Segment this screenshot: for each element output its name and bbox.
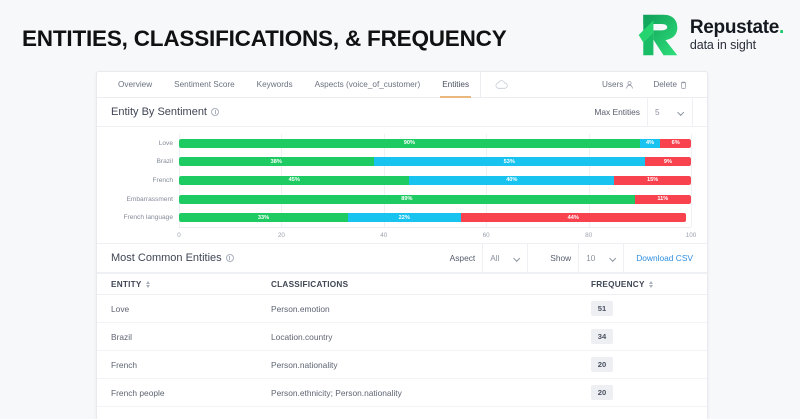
tab-keywords[interactable]: Keywords bbox=[246, 72, 304, 97]
cloud-icon[interactable] bbox=[481, 72, 522, 97]
bar-segment-positive: 45% bbox=[179, 176, 409, 185]
frequency-badge: 34 bbox=[591, 329, 613, 344]
chart-bar-row: French 45% 40% 15% bbox=[179, 176, 691, 185]
aspect-label: Aspect bbox=[450, 253, 483, 263]
trash-icon bbox=[680, 81, 687, 89]
bar-label: Embarrassment bbox=[111, 196, 173, 203]
delete-label: Delete bbox=[653, 80, 677, 89]
tab-overview[interactable]: Overview bbox=[107, 72, 163, 97]
bar-label: French bbox=[111, 177, 173, 184]
show-value: 10 bbox=[586, 254, 595, 263]
bar-segment-negative: 15% bbox=[614, 176, 691, 185]
bar-segment-neutral: 40% bbox=[409, 176, 614, 185]
tab-sentiment-score[interactable]: Sentiment Score bbox=[163, 72, 246, 97]
max-entities-control: Max Entities 5 bbox=[594, 98, 693, 126]
bar-track: 33% 22% 44% bbox=[179, 213, 691, 222]
show-select[interactable]: 10 bbox=[578, 244, 624, 272]
most-common-entities-header: Most Common Entities Aspect All Show 10 … bbox=[97, 243, 707, 273]
entity-sentiment-header: Entity By Sentiment Max Entities 5 bbox=[97, 98, 707, 127]
logo-wordmark-text: Repustate bbox=[690, 17, 779, 38]
cell-entity: Brazil bbox=[111, 332, 271, 342]
cell-frequency: 20 bbox=[591, 385, 693, 400]
most-common-entities-title: Most Common Entities bbox=[111, 252, 234, 264]
table-row[interactable]: Love Person.emotion 51 bbox=[97, 295, 707, 323]
max-entities-value: 5 bbox=[655, 108, 660, 117]
bar-segment-negative: 11% bbox=[635, 195, 691, 204]
bar-label: Love bbox=[111, 140, 173, 147]
bar-segment-positive: 90% bbox=[179, 139, 640, 148]
page-title: ENTITIES, CLASSIFICATIONS, & FREQUENCY bbox=[22, 26, 507, 52]
cell-entity: French bbox=[111, 360, 271, 370]
info-icon[interactable] bbox=[211, 108, 219, 116]
page-header: ENTITIES, CLASSIFICATIONS, & FREQUENCY R… bbox=[0, 0, 800, 70]
download-csv-link[interactable]: Download CSV bbox=[624, 253, 693, 263]
chart-plot: Love 90% 4% 6% Brazil 38% 53% 9% bbox=[111, 134, 693, 227]
frequency-badge: 20 bbox=[591, 357, 613, 372]
bar-segment-neutral: 4% bbox=[640, 139, 660, 148]
aspect-control: Aspect All bbox=[450, 244, 529, 272]
logo-text: Repustate. data in sight bbox=[690, 18, 784, 52]
sort-icon[interactable] bbox=[146, 281, 150, 288]
bar-segment-positive: 89% bbox=[179, 195, 635, 204]
max-entities-select[interactable]: 5 bbox=[647, 98, 693, 126]
x-axis-tick-label: 60 bbox=[483, 232, 490, 239]
tab-aspects[interactable]: Aspects (voice_of_customer) bbox=[304, 72, 432, 97]
chart-bar-row: Brazil 38% 53% 9% bbox=[179, 157, 691, 166]
table-row[interactable]: French Person.nationality 20 bbox=[97, 351, 707, 379]
bar-segment-positive: 33% bbox=[179, 213, 348, 222]
column-header-frequency-label: FREQUENCY bbox=[591, 280, 645, 289]
cell-entity: French people bbox=[111, 388, 271, 398]
frequency-badge: 51 bbox=[591, 301, 613, 316]
users-label: Users bbox=[602, 80, 623, 89]
logo-tagline: data in sight bbox=[690, 39, 784, 52]
user-icon bbox=[626, 81, 633, 89]
show-label: Show bbox=[550, 253, 578, 263]
info-icon[interactable] bbox=[226, 254, 234, 262]
bar-segment-neutral: 53% bbox=[374, 157, 645, 166]
table-row[interactable]: Brazil Location.country 34 bbox=[97, 323, 707, 351]
entity-sentiment-title-text: Entity By Sentiment bbox=[111, 106, 207, 118]
chevron-down-icon bbox=[678, 109, 685, 116]
x-axis-tick-label: 80 bbox=[585, 232, 592, 239]
max-entities-label: Max Entities bbox=[594, 107, 647, 117]
tab-entities[interactable]: Entities bbox=[431, 72, 480, 97]
repustate-r-logo-icon bbox=[635, 12, 681, 58]
bar-segment-negative: 6% bbox=[660, 139, 691, 148]
entity-sentiment-chart: Love 90% 4% 6% Brazil 38% 53% 9% bbox=[97, 127, 707, 243]
most-common-entities-title-text: Most Common Entities bbox=[111, 252, 222, 264]
bar-segment-neutral: 22% bbox=[348, 213, 461, 222]
gridline bbox=[691, 134, 692, 227]
aspect-select[interactable]: All bbox=[482, 244, 528, 272]
bar-segment-negative: 9% bbox=[645, 157, 691, 166]
entities-table-header: ENTITY CLASSIFICATIONS FREQUENCY bbox=[97, 273, 707, 295]
chart-x-axis: 020406080100 bbox=[179, 227, 691, 243]
column-header-entity[interactable]: ENTITY bbox=[111, 280, 271, 289]
cell-classifications: Person.nationality bbox=[271, 360, 591, 370]
cell-entity: Love bbox=[111, 304, 271, 314]
bar-label: French language bbox=[111, 214, 173, 221]
column-header-classifications-label: CLASSIFICATIONS bbox=[271, 280, 348, 289]
x-axis-tick-label: 100 bbox=[686, 232, 697, 239]
x-axis-tick-label: 20 bbox=[278, 232, 285, 239]
x-axis-tick-label: 40 bbox=[380, 232, 387, 239]
cell-classifications: Person.emotion bbox=[271, 304, 591, 314]
repustate-logo: Repustate. data in sight bbox=[635, 12, 784, 58]
app-navbar: Overview Sentiment Score Keywords Aspect… bbox=[97, 72, 707, 98]
cell-frequency: 20 bbox=[591, 357, 693, 372]
bar-label: Brazil bbox=[111, 158, 173, 165]
chart-bar-row: French language 33% 22% 44% bbox=[179, 213, 691, 222]
logo-wordmark-dot: . bbox=[779, 17, 784, 38]
chevron-down-icon bbox=[609, 255, 616, 262]
column-header-entity-label: ENTITY bbox=[111, 280, 142, 289]
cell-frequency: 34 bbox=[591, 329, 693, 344]
cell-classifications: Person.ethnicity; Person.nationality bbox=[271, 388, 591, 398]
show-control: Show 10 bbox=[550, 244, 624, 272]
bar-track: 90% 4% 6% bbox=[179, 139, 691, 148]
chart-bar-row: Embarrassment 89% 11% bbox=[179, 195, 691, 204]
delete-button[interactable]: Delete bbox=[645, 80, 695, 89]
sort-icon[interactable] bbox=[649, 281, 653, 288]
bar-segment-positive: 38% bbox=[179, 157, 374, 166]
column-header-frequency[interactable]: FREQUENCY bbox=[591, 280, 693, 289]
chart-inner: Love 90% 4% 6% Brazil 38% 53% 9% bbox=[111, 134, 693, 243]
nav-tab-list: Overview Sentiment Score Keywords Aspect… bbox=[97, 72, 481, 97]
cell-frequency: 51 bbox=[591, 301, 693, 316]
bar-track: 89% 11% bbox=[179, 195, 691, 204]
chevron-down-icon bbox=[513, 255, 520, 262]
entity-sentiment-title: Entity By Sentiment bbox=[111, 106, 219, 118]
table-row[interactable]: French people Person.ethnicity; Person.n… bbox=[97, 379, 707, 407]
bar-track: 45% 40% 15% bbox=[179, 176, 691, 185]
chart-bar-row: Love 90% 4% 6% bbox=[179, 139, 691, 148]
bar-segment-negative: 44% bbox=[461, 213, 686, 222]
logo-wordmark: Repustate. bbox=[690, 18, 784, 37]
bar-track: 38% 53% 9% bbox=[179, 157, 691, 166]
column-header-classifications[interactable]: CLASSIFICATIONS bbox=[271, 280, 591, 289]
x-axis-tick-label: 0 bbox=[177, 232, 181, 239]
app-screenshot-card: Overview Sentiment Score Keywords Aspect… bbox=[96, 71, 708, 419]
nav-actions: Users Delete bbox=[594, 72, 707, 97]
cloud-glyph bbox=[495, 80, 508, 89]
users-button[interactable]: Users bbox=[594, 80, 641, 89]
frequency-badge: 20 bbox=[591, 385, 613, 400]
aspect-value: All bbox=[490, 254, 499, 263]
cell-classifications: Location.country bbox=[271, 332, 591, 342]
